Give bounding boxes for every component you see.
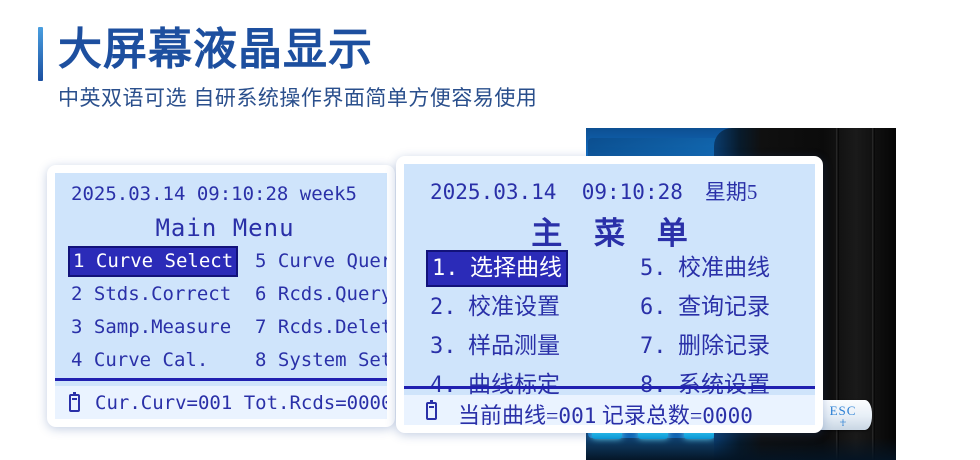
english-menu-grid: 1 Curve Select 5 Curve Query 2 Stds.Corr… xyxy=(71,248,387,380)
chinese-footer-text: 当前曲线=001 记录总数=0000 xyxy=(458,398,753,425)
lcd-chinese-content: 2025.03.14 09:10:28星期5 主 菜 单 1.选择曲线 5.校准… xyxy=(404,164,815,425)
english-footer-text: Cur.Curv=001 Tot.Rcds=0000 xyxy=(95,392,387,414)
chinese-menu-row: 2.校准设置 6.查询记录 xyxy=(430,291,815,330)
chinese-menu-label-8: 系统设置 xyxy=(678,372,770,397)
lcd-screen-english: 2025.03.14 09:10:28 week5 Main Menu 1 Cu… xyxy=(47,165,395,427)
chinese-menu-label-6: 查询记录 xyxy=(678,294,770,319)
english-menu-item-7[interactable]: 7 Rcds.Delete xyxy=(255,314,387,341)
battery-icon xyxy=(69,394,80,412)
chinese-time: 09:10:28 xyxy=(582,180,683,204)
battery-icon xyxy=(426,402,437,420)
chinese-menu-number-2: 2. xyxy=(430,292,468,324)
chinese-menu-number-7: 7. xyxy=(640,331,678,363)
english-menu-item-5[interactable]: 5 Curve Query xyxy=(255,248,387,275)
chinese-menu-label-4: 曲线标定 xyxy=(468,372,560,397)
page-header: 大屏幕液晶显示 中英双语可选 自研系统操作界面简单方便容易使用 xyxy=(0,0,980,140)
chinese-menu-item-2[interactable]: 2.校准设置 xyxy=(430,291,560,324)
page-title: 大屏幕液晶显示 xyxy=(58,22,373,78)
chinese-menu-number-5: 5. xyxy=(640,253,678,285)
instrument-bottom-shade xyxy=(586,438,896,460)
chinese-menu-label-5: 校准曲线 xyxy=(678,255,770,280)
instrument-seam-2 xyxy=(872,128,875,460)
chinese-menu-label-7: 删除记录 xyxy=(678,333,770,358)
chinese-menu-item-1[interactable]: 1.选择曲线 xyxy=(426,250,568,287)
chinese-weekday: 星期5 xyxy=(705,180,758,204)
english-menu-row: 3 Samp.Measure 7 Rcds.Delete xyxy=(71,314,387,347)
chinese-menu-row: 3.样品测量 7.删除记录 xyxy=(430,330,815,369)
chinese-footer-divider xyxy=(404,386,815,389)
chinese-menu-number-3: 3. xyxy=(430,331,468,363)
chinese-footer-records-label: 记录总数= xyxy=(602,403,702,425)
chinese-menu-item-3[interactable]: 3.样品测量 xyxy=(430,330,560,363)
english-status-bar: 2025.03.14 09:10:28 week5 xyxy=(55,183,387,205)
chinese-menu-title: 主 菜 单 xyxy=(404,208,815,253)
chinese-menu-item-5[interactable]: 5.校准曲线 xyxy=(640,252,770,285)
chinese-footer-curve-label: 当前曲线= xyxy=(458,403,558,425)
chinese-menu-label-2: 校准设置 xyxy=(468,294,560,319)
english-menu-item-8[interactable]: 8 System Set xyxy=(255,347,387,374)
chinese-status-bar: 2025.03.14 09:10:28星期5 xyxy=(404,176,815,206)
page-subtitle: 中英双语可选 自研系统操作界面简单方便容易使用 xyxy=(58,85,537,113)
english-menu-item-6[interactable]: 6 Rcds.Query xyxy=(255,281,387,308)
english-menu-item-4[interactable]: 4 Curve Cal. xyxy=(71,347,208,374)
chinese-menu-number-6: 6. xyxy=(640,292,678,324)
chinese-menu-number-1: 1. xyxy=(432,253,470,285)
chinese-footer-curve-value: 001 xyxy=(558,404,596,425)
chinese-footer-bar: 当前曲线=001 记录总数=0000 xyxy=(404,395,815,425)
lcd-english-content: 2025.03.14 09:10:28 week5 Main Menu 1 Cu… xyxy=(55,173,387,419)
english-menu-row: 1 Curve Select 5 Curve Query xyxy=(71,248,387,281)
chinese-menu-row: 1.选择曲线 5.校准曲线 xyxy=(430,252,815,291)
english-footer-bar: Cur.Curv=001 Tot.Rcds=0000 xyxy=(55,386,387,419)
english-footer-divider xyxy=(55,378,387,381)
accent-bar xyxy=(38,27,43,81)
lcd-screen-chinese: 2025.03.14 09:10:28星期5 主 菜 单 1.选择曲线 5.校准… xyxy=(396,156,823,433)
chinese-date: 2025.03.14 xyxy=(430,180,556,204)
english-menu-item-3[interactable]: 3 Samp.Measure xyxy=(71,314,231,341)
english-menu-item-1[interactable]: 1 Curve Select xyxy=(68,246,238,277)
english-menu-title: Main Menu xyxy=(55,214,387,242)
chinese-footer-records-value: 0000 xyxy=(702,404,753,425)
chinese-menu-item-6[interactable]: 6.查询记录 xyxy=(640,291,770,324)
chinese-menu-grid: 1.选择曲线 5.校准曲线 2.校准设置 6.查询记录 3.样品测量 7.删除记… xyxy=(430,252,815,408)
chinese-menu-item-7[interactable]: 7.删除记录 xyxy=(640,330,770,363)
english-menu-row: 2 Stds.Correct 6 Rcds.Query xyxy=(71,281,387,314)
english-menu-row: 4 Curve Cal. 8 System Set xyxy=(71,347,387,380)
english-menu-item-2[interactable]: 2 Stds.Correct xyxy=(71,281,231,308)
chinese-menu-label-3: 样品测量 xyxy=(468,333,560,358)
chinese-menu-label-1: 选择曲线 xyxy=(470,255,562,280)
